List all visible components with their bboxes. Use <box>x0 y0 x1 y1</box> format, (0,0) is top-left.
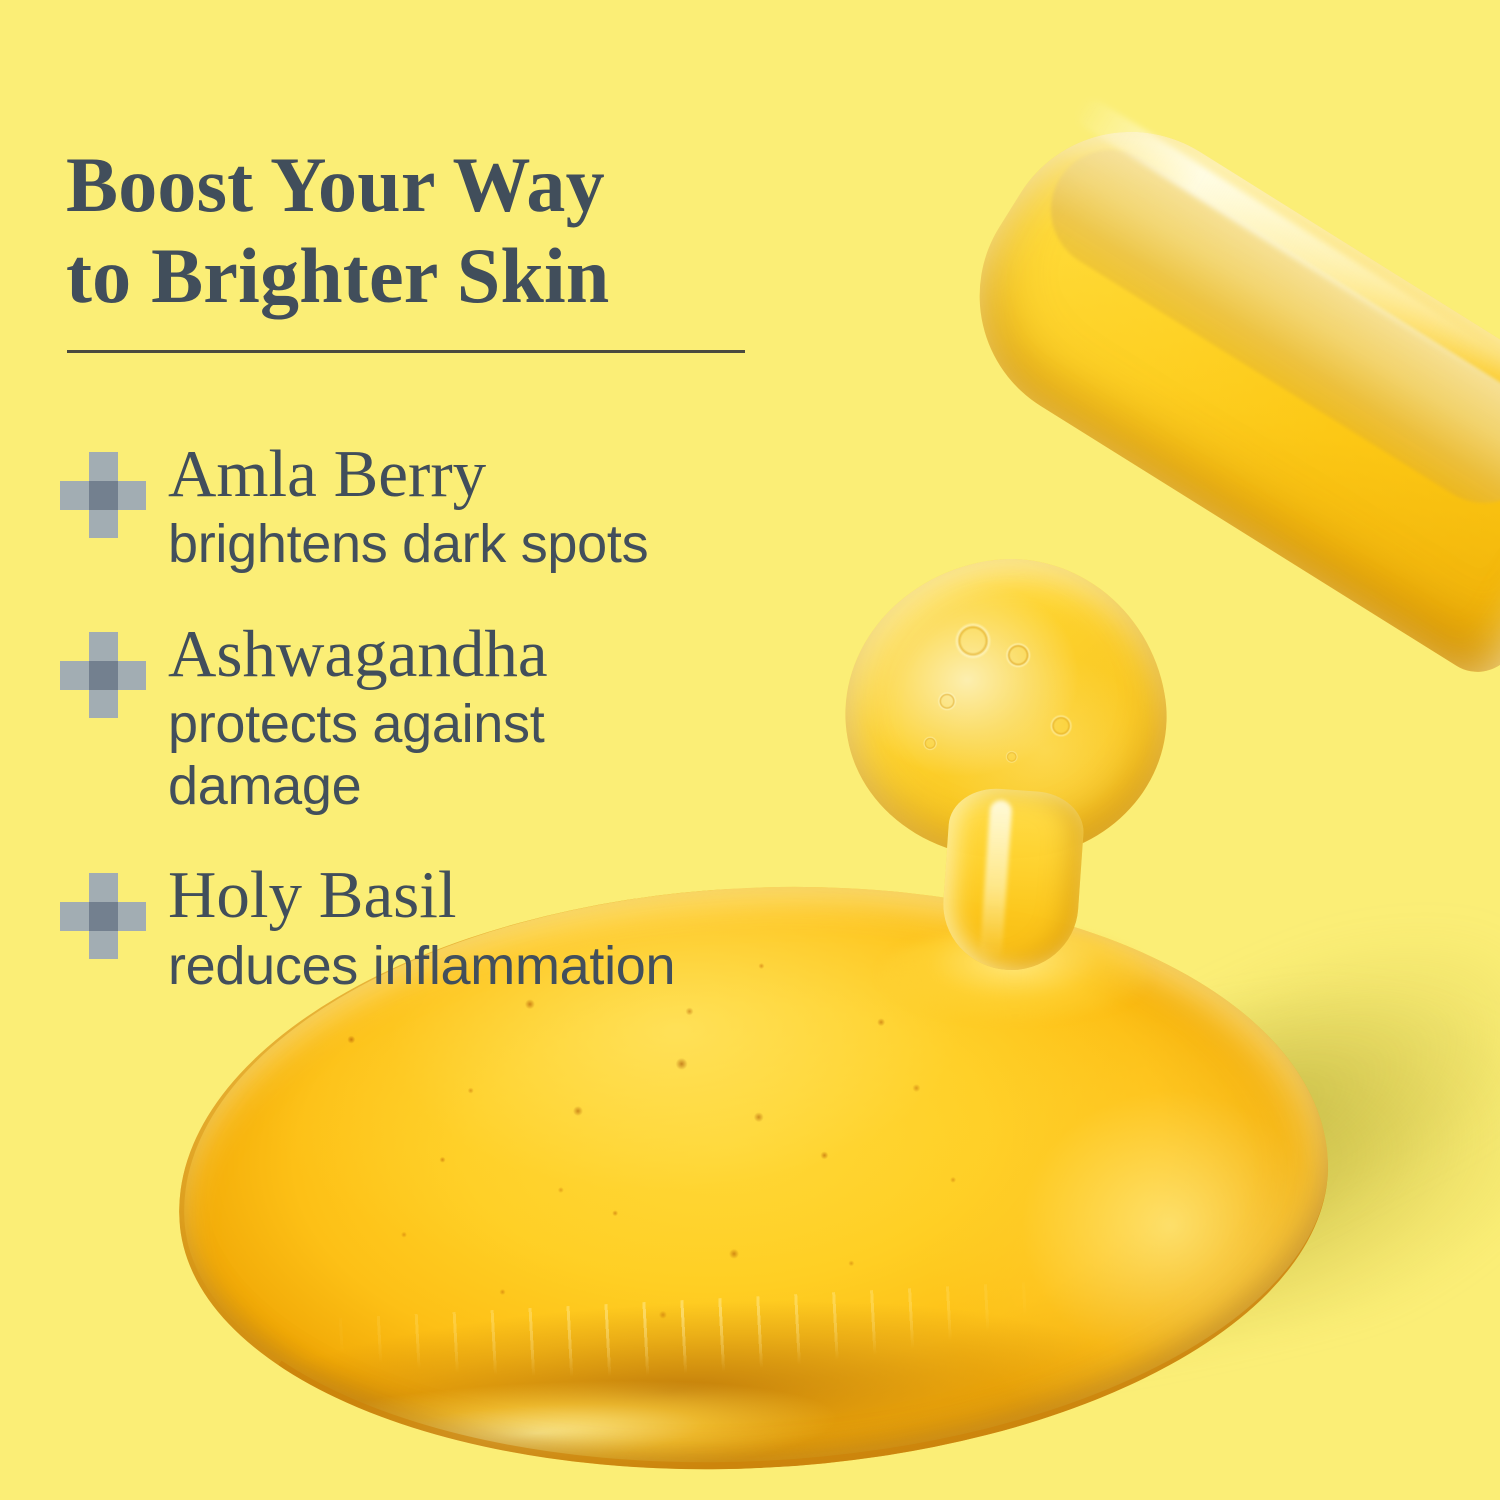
benefit-title: Holy Basil <box>168 861 960 929</box>
benefit-text: Holy Basil reduces inflammation <box>168 861 960 997</box>
benefit-subtitle: protects against damage <box>168 694 728 817</box>
benefit-text: Amla Berry brightens dark spots <box>168 440 960 576</box>
list-item: Ashwagandha protects against damage <box>60 620 960 817</box>
benefit-text: Ashwagandha protects against damage <box>168 620 960 817</box>
plus-icon-center <box>89 902 118 931</box>
plus-icon-center <box>89 661 118 690</box>
benefit-title: Ashwagandha <box>168 620 960 688</box>
headline-line-1: Boost Your Way <box>66 141 605 228</box>
plus-icon <box>60 452 146 538</box>
plus-icon <box>60 873 146 959</box>
plus-icon-center <box>89 481 118 510</box>
benefit-subtitle: reduces inflammation <box>168 936 960 998</box>
benefit-title: Amla Berry <box>168 440 960 508</box>
product-benefits-poster: Boost Your Way to Brighter Skin Amla Ber… <box>0 0 1500 1500</box>
poster-content: Boost Your Way to Brighter Skin Amla Ber… <box>0 0 1500 1500</box>
divider-rule <box>67 350 745 353</box>
benefits-list: Amla Berry brightens dark spots Ashwagan… <box>60 440 960 997</box>
headline-line-2: to Brighter Skin <box>66 231 826 321</box>
benefit-subtitle: brightens dark spots <box>168 514 960 576</box>
page-title: Boost Your Way to Brighter Skin <box>66 140 826 321</box>
plus-icon <box>60 632 146 718</box>
list-item: Amla Berry brightens dark spots <box>60 440 960 576</box>
list-item: Holy Basil reduces inflammation <box>60 861 960 997</box>
